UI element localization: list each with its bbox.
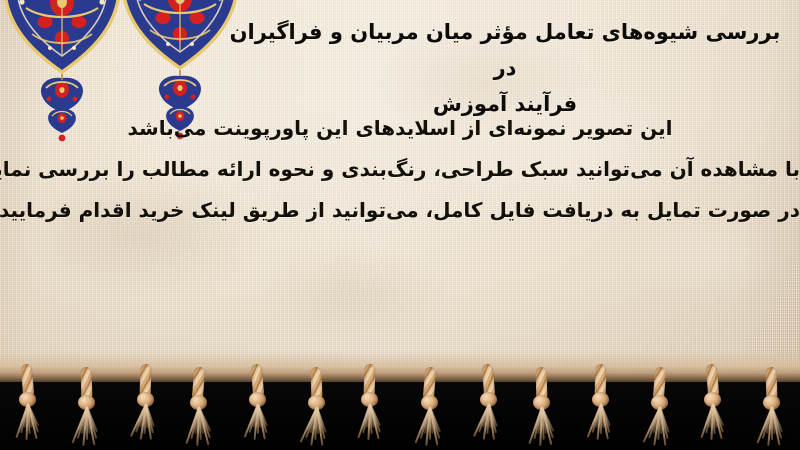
tassel-skirt — [305, 407, 328, 445]
tassel-skirt — [648, 407, 671, 445]
carpet-selvedge-edge — [0, 352, 800, 382]
tassel-skirt — [134, 404, 157, 442]
tassel — [303, 367, 329, 447]
tassel — [356, 364, 382, 444]
carpet-tassel-fringe — [0, 352, 800, 450]
fringe-black-field — [0, 374, 800, 450]
tassel — [528, 367, 554, 447]
slide-text: بررسی شیوه‌های تعامل مؤثر میان مربیان و … — [0, 0, 800, 378]
body-line-3: در صورت تمایل به دریافت فایل کامل، می‌تو… — [0, 190, 800, 231]
tassel-skirt — [16, 404, 39, 442]
tassel-skirt — [530, 407, 553, 445]
tassel — [14, 364, 40, 444]
tassel-skirt — [701, 404, 724, 442]
body-line-1: این تصویر نمونه‌ای از اسلایدهای این پاور… — [0, 108, 800, 149]
body-line-2: با مشاهده آن می‌توانید سبک طراحی، رنگ‌بن… — [0, 149, 800, 190]
presentation-slide: بررسی شیوه‌های تعامل مؤثر میان مربیان و … — [0, 0, 800, 450]
slide-body: این تصویر نمونه‌ای از اسلایدهای این پاور… — [0, 108, 800, 231]
tassel-skirt — [760, 407, 783, 445]
tassel-skirt — [187, 407, 210, 445]
tassel-skirt — [358, 404, 381, 442]
slide-title: بررسی شیوه‌های تعامل مؤثر میان مربیان و … — [220, 14, 790, 122]
tassel-skirt — [477, 404, 500, 442]
tassel — [646, 367, 672, 447]
tassel — [475, 364, 501, 444]
tassel — [132, 364, 158, 444]
tassel — [73, 367, 99, 447]
slide-title-line-1: بررسی شیوه‌های تعامل مؤثر میان مربیان و … — [220, 14, 790, 86]
tassel — [416, 367, 442, 447]
tassel — [699, 364, 725, 444]
tassel-skirt — [589, 404, 612, 442]
tassel — [587, 364, 613, 444]
tassel — [758, 367, 784, 447]
tassel — [244, 364, 270, 444]
tassel-skirt — [246, 404, 269, 442]
tassel-skirt — [75, 407, 98, 445]
tassel-skirt — [418, 407, 441, 445]
tassel — [185, 367, 211, 447]
